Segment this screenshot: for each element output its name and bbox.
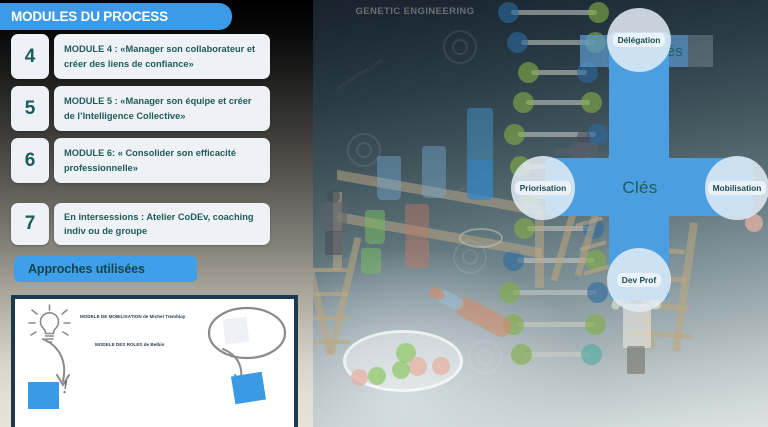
whiteboard-text-belbin: MODELE DES ROLES de Belbin: [95, 342, 205, 349]
whiteboard-surface: MODELE DE MOBILISATION de Michel Trembla…: [15, 299, 294, 427]
module-row[interactable]: 4 MODULE 4 : «Manager son collaborateur …: [11, 34, 270, 79]
illustration-panel: GENETIC ENGINEERING dreamstime.com dream…: [313, 0, 768, 427]
node-mobilisation-label: Mobilisation: [708, 181, 767, 195]
cles-cross-diagram[interactable]: Clés Délégation Priorisation Mobilisatio…: [523, 20, 768, 320]
approches-utilisees-label: Approches utilisées: [28, 262, 145, 276]
node-delegation[interactable]: Délégation: [607, 8, 671, 72]
node-devprof-label: Dev Prof: [617, 273, 661, 287]
module-description: MODULE 4 : «Manager son collaborateur et…: [54, 34, 270, 79]
whiteboard-blue-square-right: [231, 372, 266, 405]
node-mobilisation[interactable]: Mobilisation: [705, 156, 768, 220]
scientist-left: [315, 190, 355, 260]
module-row[interactable]: 5 MODULE 5 : «Manager son équipe et crée…: [11, 86, 270, 131]
watermark-text: dreamstime.com: [335, 56, 385, 91]
module-number-badge: 7: [11, 203, 49, 245]
node-devprof[interactable]: Dev Prof: [607, 248, 671, 312]
whiteboard-text-mobilisation: MODELE DE MOBILISATION de Michel Trembla…: [80, 314, 190, 321]
modules-header-banner: MODULES DU PROCESS: [0, 3, 232, 30]
whiteboard-thumbnail[interactable]: MODELE DE MOBILISATION de Michel Trembla…: [11, 295, 298, 427]
petri-dish-illustration: [343, 330, 463, 392]
module-description: En intersessions : Atelier CoDEv, coachi…: [54, 203, 270, 245]
module-number-badge: 6: [11, 138, 49, 183]
whiteboard-blue-square-left: [28, 382, 59, 409]
module-row[interactable]: 6 MODULE 6: « Consolider son efficacité …: [11, 138, 270, 183]
node-delegation-label: Délégation: [613, 33, 666, 47]
whiteboard-pale-square: [223, 317, 250, 345]
module-description: MODULE 5 : «Manager son équipe et créer …: [54, 86, 270, 131]
illustration-caption: GENETIC ENGINEERING: [355, 5, 475, 19]
slide-canvas: MODULES DU PROCESS 4 MODULE 4 : «Manager…: [0, 0, 768, 427]
node-priorisation[interactable]: Priorisation: [511, 156, 575, 220]
modules-header-title: MODULES DU PROCESS: [11, 9, 168, 24]
module-row[interactable]: 7 En intersessions : Atelier CoDEv, coac…: [11, 203, 270, 245]
watermark-spiral-icon: [443, 30, 477, 64]
node-priorisation-label: Priorisation: [515, 181, 572, 195]
module-description: MODULE 6: « Consolider son efficacité pr…: [54, 138, 270, 183]
left-content-panel: MODULES DU PROCESS 4 MODULE 4 : «Manager…: [0, 0, 313, 427]
approches-utilisees-banner: Approches utilisées: [14, 256, 197, 282]
module-number-badge: 5: [11, 86, 49, 131]
module-number-badge: 4: [11, 34, 49, 79]
cross-center-label: Clés: [609, 168, 671, 208]
